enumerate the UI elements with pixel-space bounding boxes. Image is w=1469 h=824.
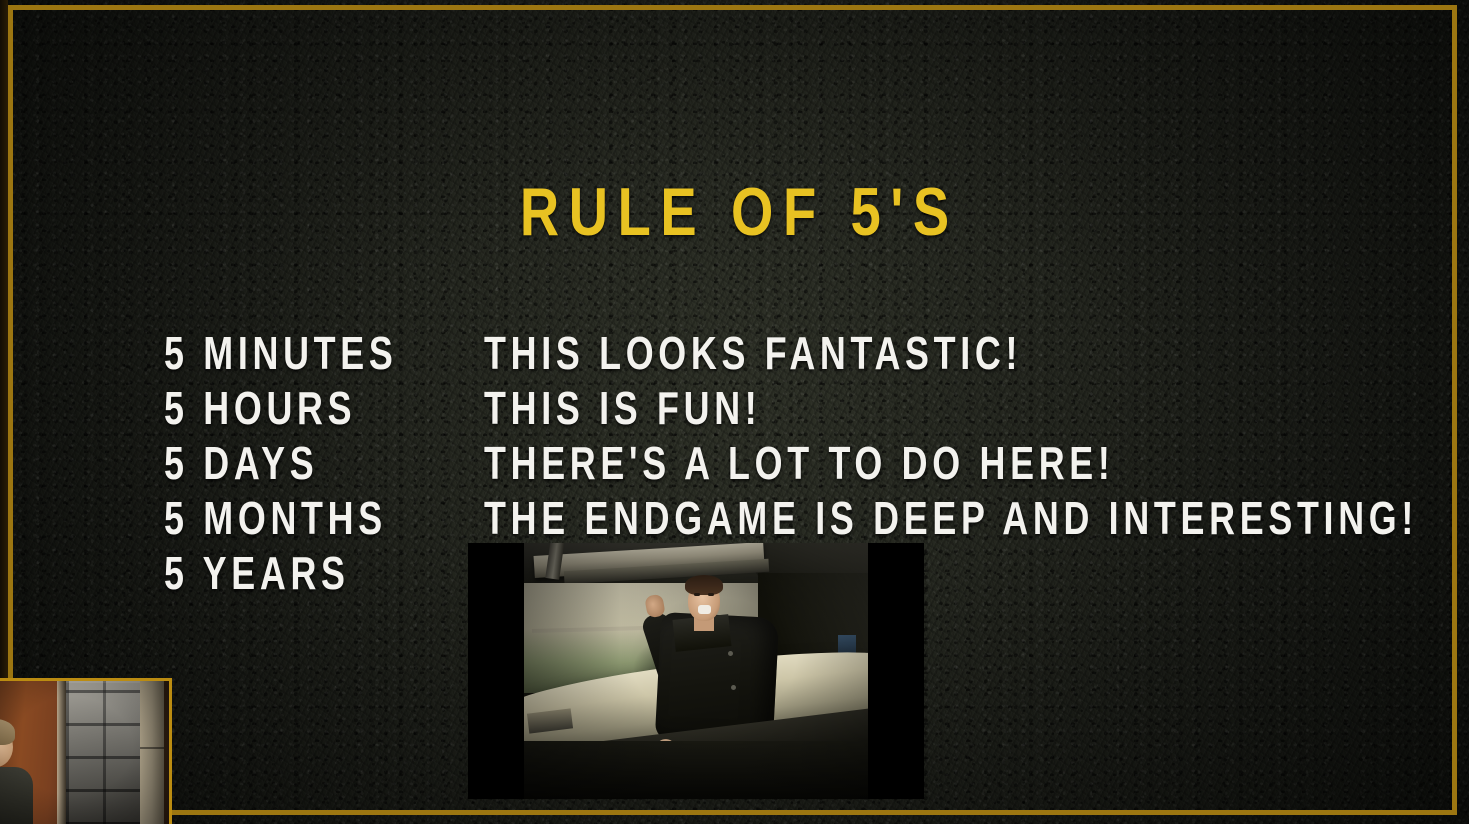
- duration-row-2: 5 HOURS: [164, 381, 414, 436]
- reaction-row-3: THERE'S A LOT TO DO HERE!: [484, 436, 1186, 491]
- presentation-slide: RULE OF 5'S 5 MINUTES 5 HOURS 5 DAYS 5 M…: [0, 0, 1469, 824]
- duration-row-5: 5 YEARS: [164, 546, 414, 601]
- video-frame-content: [524, 543, 868, 799]
- duration-column: 5 MINUTES 5 HOURS 5 DAYS 5 MONTHS 5 YEAR…: [164, 326, 484, 601]
- reaction-row-1: THIS LOOKS FANTASTIC!: [484, 326, 1186, 381]
- webcam-vignette: [0, 681, 169, 824]
- embedded-video-clip[interactable]: [468, 543, 924, 799]
- duration-row-1: 5 MINUTES: [164, 326, 414, 381]
- page-title: RULE OF 5'S: [147, 178, 1322, 246]
- reaction-row-4: THE ENDGAME IS DEEP AND INTERESTING!: [484, 491, 1186, 546]
- presenter-webcam-inset[interactable]: [0, 678, 172, 824]
- duration-row-3: 5 DAYS: [164, 436, 414, 491]
- duration-row-4: 5 MONTHS: [164, 491, 414, 546]
- reaction-row-2: THIS IS FUN!: [484, 381, 1186, 436]
- video-vignette: [524, 543, 868, 799]
